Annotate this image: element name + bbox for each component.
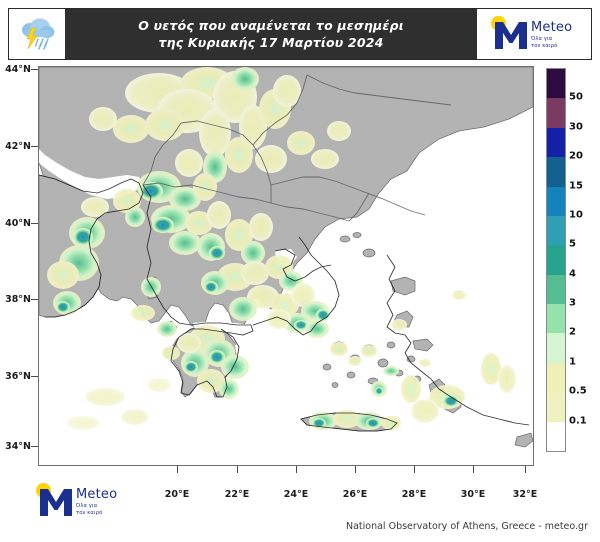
meteo-m-mark-icon: [40, 489, 72, 516]
ytick-label-5: 34°N: [5, 441, 31, 452]
ytick-label-4: 36°N: [5, 371, 31, 382]
ytick-label-0: 44°N: [5, 64, 31, 75]
colorbar-band: [547, 98, 565, 127]
colorbar-tick-label: 15: [569, 180, 583, 191]
colorbar-band: [547, 275, 565, 304]
meteo-logo-text: Meteo Όλα για τον καιρό: [531, 21, 572, 50]
xtick-label-1: 22°E: [225, 489, 249, 500]
ytick-label-2: 40°N: [5, 218, 31, 229]
precipitation-map[interactable]: [38, 66, 534, 466]
colorbar-tick-label: 5: [569, 239, 576, 250]
logo-name: Meteo: [531, 21, 572, 35]
ytick-mark-1: [31, 146, 38, 147]
header-logo-container: Meteo Όλα για τον καιρό: [477, 9, 591, 59]
colorbar-tick-label: 2: [569, 327, 576, 338]
logo-tagline-2: τον καιρό: [531, 43, 572, 49]
colorbar-band: [547, 187, 565, 216]
meteo-logo-text: Meteo Όλα για τον καιρό: [76, 488, 117, 517]
weather-map-page: Ο υετός που αναμένεται το μεσημέρι της Κ…: [0, 0, 600, 542]
colorbar-band: [547, 304, 565, 333]
logo-tagline-1: Όλα για: [76, 503, 117, 509]
colorbar-tick-label: 20: [569, 151, 583, 162]
meteo-m-mark-icon: [495, 22, 527, 49]
logo-tagline-1: Όλα για: [531, 36, 572, 42]
xtick-mark-3: [355, 466, 356, 473]
footer-credit: National Observatory of Athens, Greece -…: [346, 521, 588, 532]
colorbar-band: [547, 392, 565, 421]
colorbar-tick-label: 0.5: [569, 386, 587, 397]
colorbar-band: [547, 157, 565, 186]
ytick-label-3: 38°N: [5, 294, 31, 305]
colorbar-band: [547, 128, 565, 157]
xtick-label-2: 24°E: [284, 489, 308, 500]
map-canvas: [39, 67, 533, 465]
ytick-mark-3: [31, 299, 38, 300]
xtick-mark-5: [473, 466, 474, 473]
colorbar-tick-labels: 5030201510543210.50.1: [569, 68, 600, 452]
logo-tagline-2: τον καιρό: [76, 510, 117, 516]
ytick-label-1: 42°N: [5, 141, 31, 152]
colorbar-tick-label: 0.1: [569, 415, 587, 426]
colorbar-band: [547, 333, 565, 362]
ytick-mark-5: [31, 446, 38, 447]
colorbar-tick-label: 3: [569, 298, 576, 309]
colorbar-band: [547, 216, 565, 245]
ytick-mark-2: [31, 223, 38, 224]
colorbar-band: [547, 245, 565, 274]
header-banner: Ο υετός που αναμένεται το μεσημέρι της Κ…: [8, 8, 592, 60]
xtick-mark-6: [525, 466, 526, 473]
colorbar-band: [547, 69, 565, 98]
ytick-mark-0: [31, 69, 38, 70]
precipitation-colorbar[interactable]: [546, 68, 566, 452]
colorbar-band: [547, 363, 565, 392]
colorbar-band: [547, 422, 565, 451]
xtick-label-4: 28°E: [402, 489, 426, 500]
xtick-mark-1: [237, 466, 238, 473]
xtick-mark-4: [414, 466, 415, 473]
xtick-mark-0: [177, 466, 178, 473]
colorbar-tick-label: 10: [569, 209, 583, 220]
logo-name: Meteo: [76, 488, 117, 502]
meteo-logo[interactable]: Meteo Όλα για τον καιρό: [477, 13, 587, 55]
xtick-mark-2: [296, 466, 297, 473]
latitude-axis: 44°N 42°N 40°N 38°N 36°N 34°N: [0, 0, 31, 542]
colorbar-tick-label: 30: [569, 121, 583, 132]
meteo-logo-footer[interactable]: Meteo Όλα για τον καιρό: [22, 480, 132, 522]
colorbar-tick-label: 4: [569, 268, 576, 279]
title-line-2: της Κυριακής 17 Μαρτίου 2024: [158, 34, 383, 51]
xtick-label-3: 26°E: [343, 489, 367, 500]
page-title: Ο υετός που αναμένεται το μεσημέρι της Κ…: [65, 9, 477, 59]
xtick-label-0: 20°E: [165, 489, 189, 500]
title-line-1: Ο υετός που αναμένεται το μεσημέρι: [138, 17, 404, 34]
xtick-label-5: 30°E: [461, 489, 485, 500]
ytick-mark-4: [31, 376, 38, 377]
colorbar-tick-label: 50: [569, 92, 583, 103]
xtick-label-6: 32°E: [513, 489, 537, 500]
colorbar-tick-label: 1: [569, 356, 576, 367]
